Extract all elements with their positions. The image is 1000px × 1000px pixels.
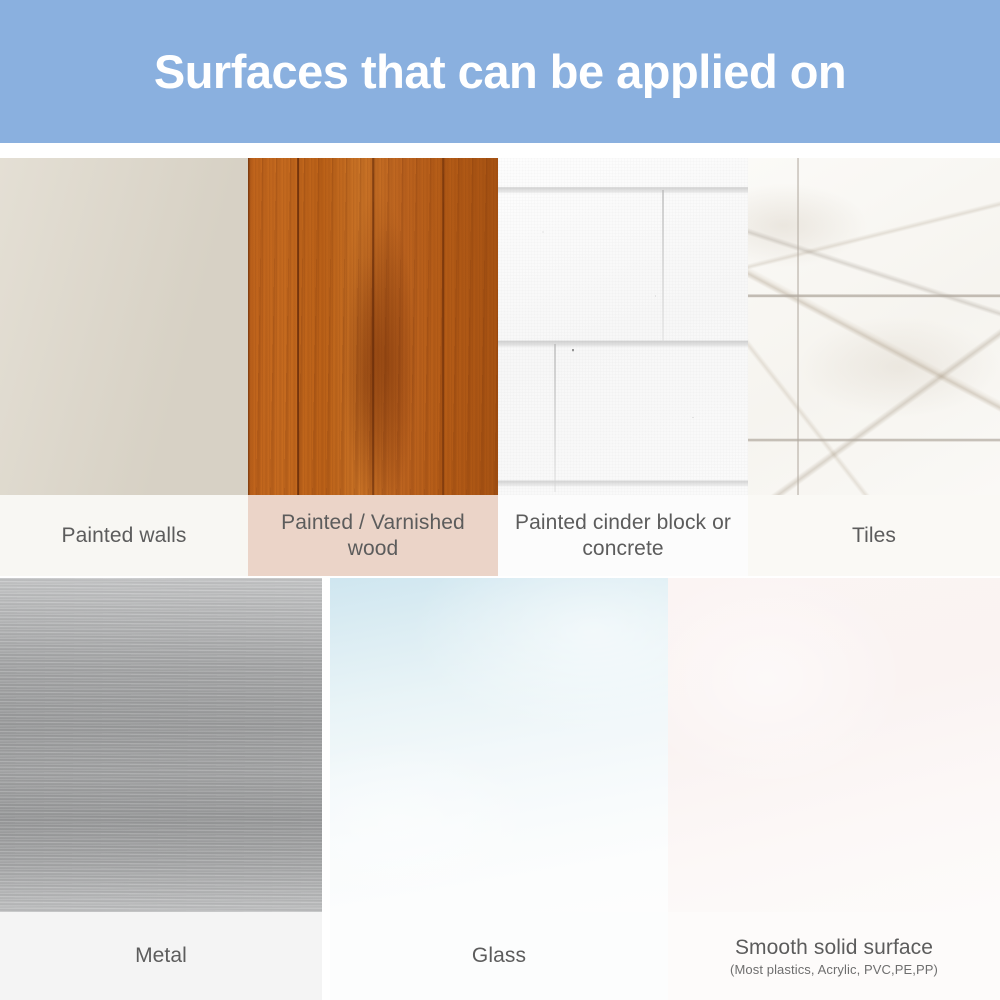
surface-label: Tiles (852, 523, 896, 549)
brushed-metal-texture (0, 578, 322, 912)
marble-tile-texture (748, 158, 1000, 495)
page-title: Surfaces that can be applied on (154, 48, 846, 95)
surface-label: Painted / Varnished wood (256, 510, 490, 561)
header-spacer (0, 143, 1000, 158)
surface-caption: Painted / Varnished wood (248, 495, 498, 576)
surface-grid-row-2: Metal Glass Smooth solid surface (Most p… (0, 578, 1000, 1000)
surface-card-painted-walls[interactable]: Painted walls (0, 158, 248, 576)
page-header: Surfaces that can be applied on (0, 0, 1000, 143)
surface-grid-row-1: Painted walls Painted / Varnished wood P… (0, 158, 1000, 576)
surface-caption: Painted cinder block or concrete (498, 495, 748, 576)
surface-card-glass[interactable]: Glass (330, 578, 668, 1000)
surface-caption: Metal (0, 912, 322, 1000)
surface-label: Painted walls (61, 523, 186, 549)
surface-card-painted-varnished-wood[interactable]: Painted / Varnished wood (248, 158, 498, 576)
surface-caption: Tiles (748, 495, 1000, 576)
surface-label: Painted cinder block or concrete (506, 510, 740, 561)
surface-label: Metal (135, 943, 187, 969)
mortar-joint-vertical (662, 190, 664, 342)
column-spacer (322, 578, 330, 1000)
varnished-wood-texture (248, 158, 498, 495)
smooth-solid-surface-texture (668, 578, 1000, 912)
surface-caption: Smooth solid surface (Most plastics, Acr… (668, 912, 1000, 1000)
surface-card-painted-cinder-block[interactable]: Painted cinder block or concrete (498, 158, 748, 576)
surface-caption: Glass (330, 912, 668, 1000)
painted-cinder-block-texture (498, 158, 748, 495)
surface-caption: Painted walls (0, 495, 248, 576)
surface-sublabel: (Most plastics, Acrylic, PVC,PE,PP) (730, 962, 938, 977)
surface-card-tiles[interactable]: Tiles (748, 158, 1000, 576)
mortar-joint-vertical (554, 344, 556, 492)
surface-label: Smooth solid surface (735, 935, 933, 961)
painted-wall-texture (0, 158, 248, 495)
surface-card-metal[interactable]: Metal (0, 578, 322, 1000)
glass-texture (330, 578, 668, 912)
surface-label: Glass (472, 943, 526, 969)
surface-card-smooth-solid-surface[interactable]: Smooth solid surface (Most plastics, Acr… (668, 578, 1000, 1000)
